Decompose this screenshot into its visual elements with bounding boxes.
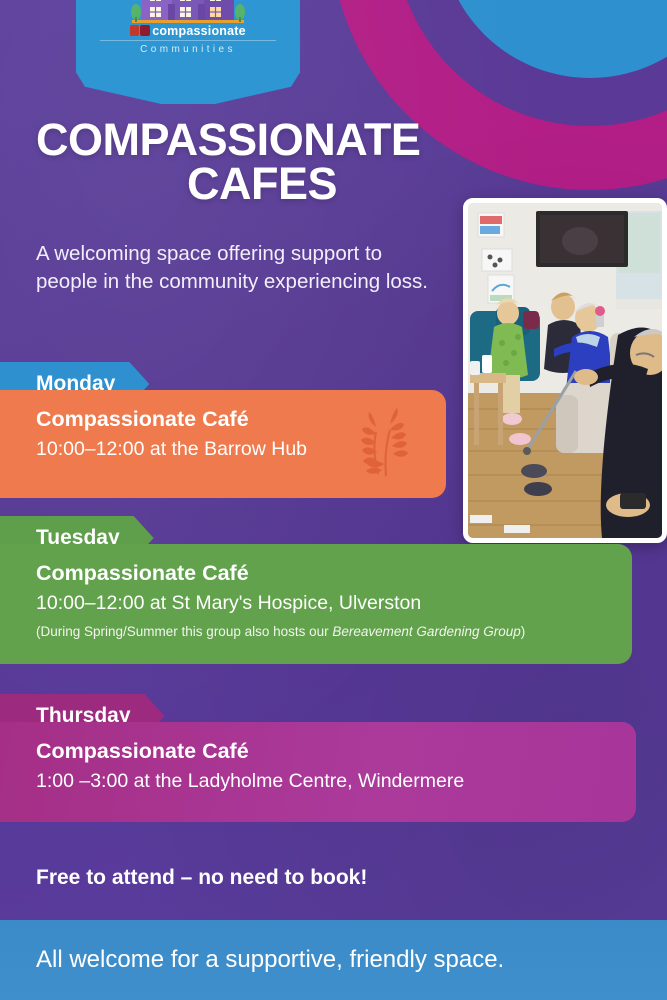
session-note-italic: Bereavement Gardening Group [332, 624, 520, 639]
footer-band: All welcome for a supportive, friendly s… [0, 920, 667, 1000]
logo-badge: compassionate Communities [76, 0, 300, 104]
footer-band-text: All welcome for a supportive, friendly s… [36, 946, 504, 974]
session-title-thursday: Compassionate Café [36, 738, 616, 765]
session-panel-thursday: Compassionate Café 1:00 –3:00 at the Lad… [0, 722, 636, 822]
session-note-suffix: ) [521, 624, 526, 639]
session-panel-tuesday: Compassionate Café 10:00–12:00 at St Mar… [0, 544, 632, 664]
logo-subtitle: Communities [76, 44, 300, 55]
session-panel-monday: Compassionate Café 10:00–12:00 at the Ba… [0, 390, 446, 498]
page-title: COMPASSIONATE CAFES [36, 118, 466, 206]
logo-divider [100, 40, 276, 41]
session-title-tuesday: Compassionate Café [36, 560, 612, 587]
logo-wordmark: compassionate [76, 24, 300, 38]
session-note-tuesday: (During Spring/Summer this group also ho… [36, 623, 612, 642]
logo-name: compassionate [152, 24, 246, 38]
free-to-attend-text: Free to attend – no need to book! [36, 866, 367, 890]
session-details-thursday: 1:00 –3:00 at the Ladyholme Centre, Wind… [36, 768, 616, 795]
photo-community-room [463, 198, 667, 543]
wheat-sprig-icon [356, 404, 408, 485]
intro-paragraph: A welcoming space offering support to pe… [36, 240, 440, 295]
logo-mark-block-1 [130, 25, 139, 36]
title-line-1: COMPASSIONATE [36, 118, 466, 162]
session-note-prefix: (During Spring/Summer this group also ho… [36, 624, 332, 639]
title-line-2: CAFES [36, 162, 466, 206]
poster-root: compassionate Communities COMPASSIONATE … [0, 0, 667, 1000]
session-details-tuesday: 10:00–12:00 at St Mary's Hospice, Ulvers… [36, 590, 612, 617]
logo-mark-block-2 [140, 25, 150, 36]
